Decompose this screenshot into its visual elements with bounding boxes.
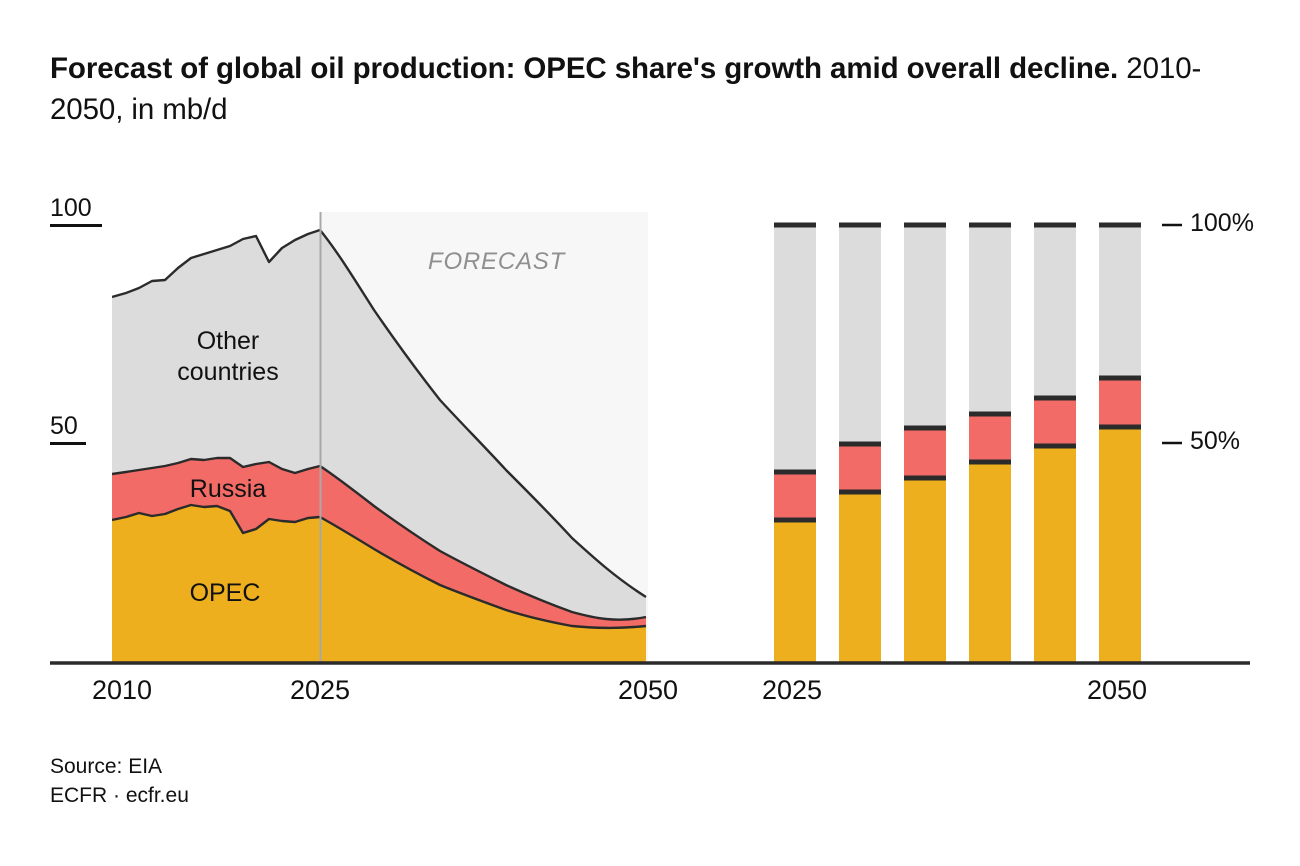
y-tick-label-100: 100 bbox=[50, 194, 92, 223]
y-tick-label-50-percent: 50% bbox=[1190, 427, 1240, 456]
x-tick-label-right-2025: 2025 bbox=[762, 675, 822, 706]
series-label-opec: OPEC bbox=[175, 578, 275, 609]
bar-chart-group bbox=[774, 223, 1141, 663]
x-tick-label-right-2050: 2050 bbox=[1087, 675, 1147, 706]
forecast-label: FORECAST bbox=[428, 248, 565, 276]
x-tick-label-left-2010: 2010 bbox=[92, 675, 152, 706]
y-tick-label-100-percent: 100% bbox=[1190, 209, 1254, 238]
series-label-other-countries: Other countries bbox=[168, 326, 288, 388]
chart-area: 100 50 100% 50% Other countries Russia O… bbox=[0, 0, 1300, 866]
source-text: Source: EIA bbox=[50, 752, 189, 781]
chart-svg bbox=[0, 0, 1300, 866]
y-tick-label-50: 50 bbox=[50, 412, 78, 441]
bar-2025[interactable] bbox=[774, 223, 816, 663]
bar-2045[interactable] bbox=[1034, 223, 1076, 663]
bar-2035[interactable] bbox=[904, 223, 946, 663]
bar-2040[interactable] bbox=[969, 223, 1011, 663]
series-label-other-line2: countries bbox=[168, 357, 288, 388]
series-label-other-line1: Other bbox=[168, 326, 288, 357]
x-tick-label-left-2050: 2050 bbox=[618, 675, 678, 706]
series-label-russia: Russia bbox=[178, 474, 278, 505]
x-tick-label-left-2025: 2025 bbox=[290, 675, 350, 706]
footer: Source: EIA ECFR · ecfr.eu bbox=[50, 752, 189, 810]
y-tick-rule-50 bbox=[50, 442, 86, 445]
bar-2030[interactable] bbox=[839, 223, 881, 663]
y-tick-rule-100 bbox=[50, 224, 102, 227]
credit-text: ECFR · ecfr.eu bbox=[50, 781, 189, 810]
bar-2050[interactable] bbox=[1099, 223, 1141, 663]
